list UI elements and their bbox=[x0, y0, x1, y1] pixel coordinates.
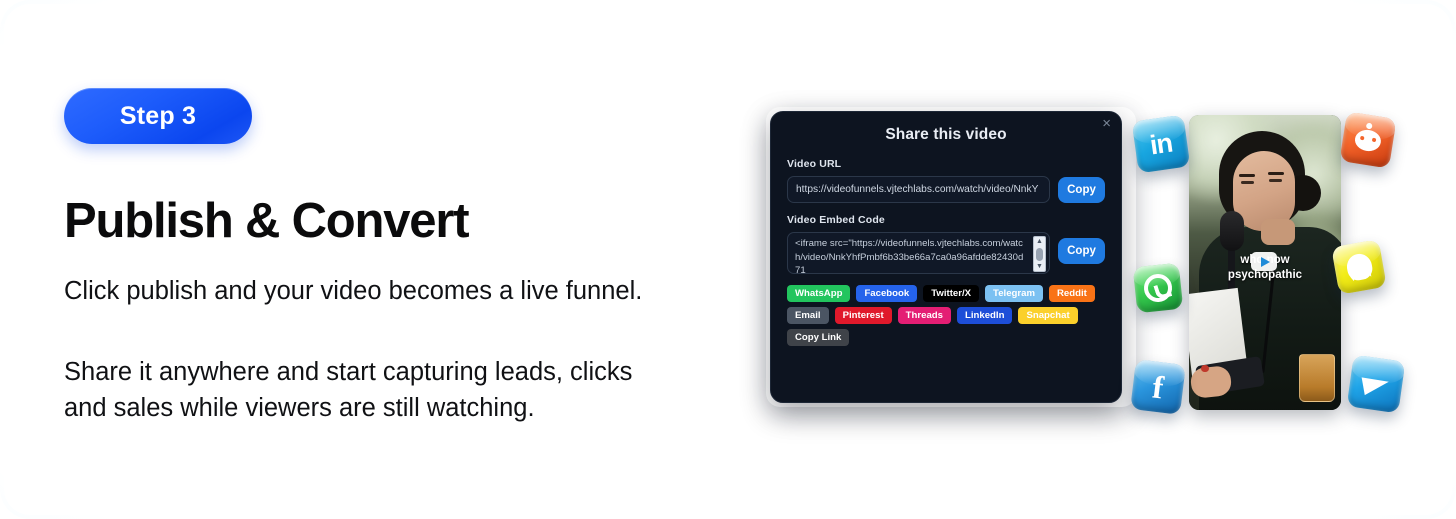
close-icon[interactable]: × bbox=[1102, 116, 1111, 131]
scroll-down-icon[interactable]: ▼ bbox=[1036, 263, 1043, 270]
subject-eye-right bbox=[1269, 179, 1282, 182]
share-button-whatsapp[interactable]: WhatsApp bbox=[787, 285, 850, 302]
scroll-up-icon[interactable]: ▲ bbox=[1036, 238, 1043, 245]
description-paragraph-2: Share it anywhere and start capturing le… bbox=[64, 354, 664, 426]
embed-scrollbar[interactable]: ▲ ▼ bbox=[1033, 236, 1046, 272]
drink-glass bbox=[1299, 354, 1335, 402]
telegram-icon[interactable] bbox=[1347, 355, 1406, 414]
share-button-telegram[interactable]: Telegram bbox=[985, 285, 1043, 302]
share-button-copy-link[interactable]: Copy Link bbox=[787, 329, 849, 346]
video-url-label: Video URL bbox=[787, 158, 1105, 170]
embed-code-text: <iframe src="https://videofunnels.vjtech… bbox=[795, 238, 1023, 274]
linkedin-icon[interactable]: in bbox=[1132, 115, 1191, 174]
left-content: Step 3 Publish & Convert Click publish a… bbox=[64, 88, 684, 426]
dialog-title: Share this video bbox=[787, 126, 1105, 144]
copy-embed-button[interactable]: Copy bbox=[1058, 238, 1105, 264]
share-button-threads[interactable]: Threads bbox=[898, 307, 951, 324]
embed-code-textarea[interactable]: <iframe src="https://videofunnels.vjtech… bbox=[787, 232, 1050, 274]
promo-card: Step 3 Publish & Convert Click publish a… bbox=[0, 0, 1456, 519]
share-button-linkedin[interactable]: LinkedIn bbox=[957, 307, 1012, 324]
scrollbar-thumb[interactable] bbox=[1036, 248, 1043, 261]
share-button-grid: WhatsAppFacebookTwitter/XTelegramRedditE… bbox=[787, 285, 1105, 346]
reddit-icon[interactable] bbox=[1339, 111, 1396, 168]
share-button-twitter-x[interactable]: Twitter/X bbox=[923, 285, 979, 302]
microphone-icon bbox=[1220, 211, 1244, 251]
facebook-icon[interactable]: f bbox=[1130, 359, 1186, 415]
embed-code-label: Video Embed Code bbox=[787, 214, 1105, 226]
video-url-input[interactable]: https://videofunnels.vjtechlabs.com/watc… bbox=[787, 176, 1050, 203]
play-icon[interactable] bbox=[1251, 252, 1277, 271]
subject-brow-right bbox=[1268, 172, 1284, 175]
fingernail bbox=[1201, 365, 1209, 372]
video-thumbnail[interactable]: who now psychopathic bbox=[1189, 115, 1341, 410]
share-button-pinterest[interactable]: Pinterest bbox=[835, 307, 892, 324]
snapchat-icon[interactable] bbox=[1331, 239, 1387, 295]
step-badge: Step 3 bbox=[64, 88, 252, 144]
share-button-email[interactable]: Email bbox=[787, 307, 829, 324]
share-button-reddit[interactable]: Reddit bbox=[1049, 285, 1095, 302]
copy-url-button[interactable]: Copy bbox=[1058, 177, 1105, 203]
whatsapp-icon[interactable] bbox=[1133, 263, 1184, 314]
subject-neck bbox=[1261, 219, 1295, 245]
share-button-facebook[interactable]: Facebook bbox=[856, 285, 917, 302]
share-button-snapchat[interactable]: Snapchat bbox=[1018, 307, 1077, 324]
description-paragraph-1: Click publish and your video becomes a l… bbox=[64, 273, 664, 309]
subject-eye-left bbox=[1241, 181, 1254, 184]
subject-brow-left bbox=[1239, 174, 1255, 177]
page-title: Publish & Convert bbox=[64, 196, 684, 247]
share-dialog: × Share this video Video URL https://vid… bbox=[770, 111, 1122, 403]
